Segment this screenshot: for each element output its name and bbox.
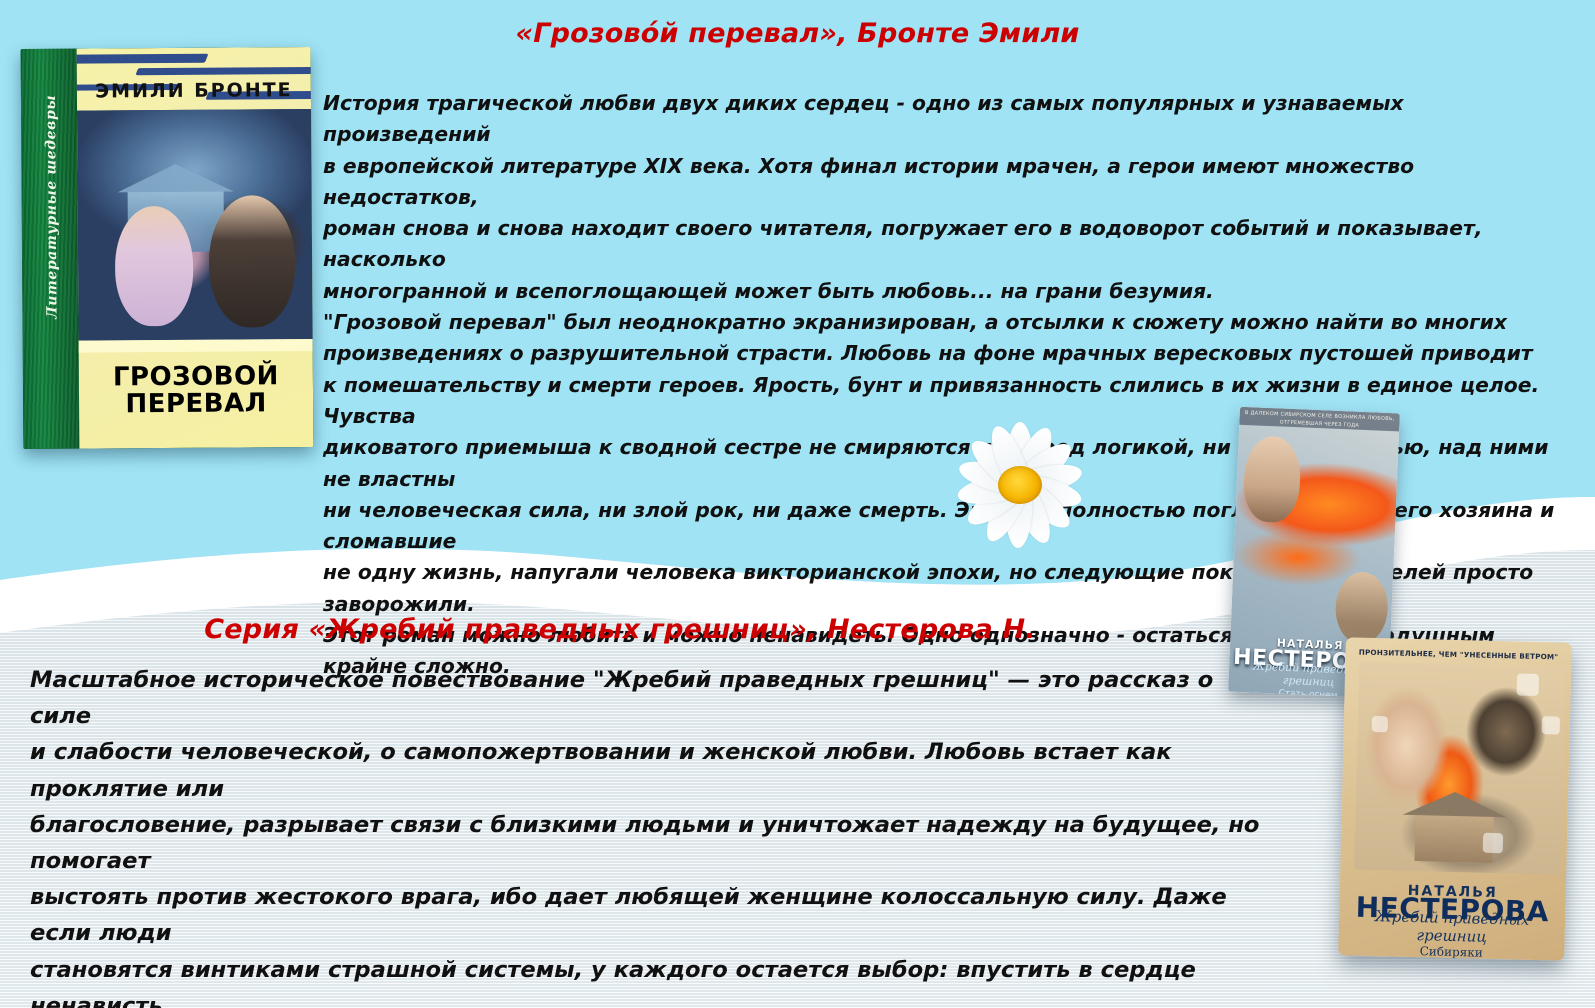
book1-illustration (77, 109, 313, 341)
book1-streak (135, 67, 313, 75)
daisy-center (998, 466, 1042, 504)
poster-canvas: «Грозово́й перевал», Бронте Эмили Истори… (0, 0, 1595, 1008)
book1-spine: Литературные шедевры (21, 49, 82, 449)
book3-puzzle-piece (1372, 716, 1388, 732)
book-cover-nesterova-front: ПРОНЗИТЕЛЬНЕЕ, ЧЕМ "УНЕСЕННЫЕ ВЕТРОМ" НА… (1338, 637, 1572, 960)
book1-man-figure (209, 195, 296, 328)
book3-puzzle-piece (1517, 673, 1540, 696)
book1-title-line2: ПЕРЕВАЛ (79, 390, 313, 419)
book3-puzzle-piece (1542, 716, 1560, 734)
book1-series-label: Литературные шедевры (43, 67, 61, 347)
book1-title: ГРОЗОВОЙ ПЕРЕВАЛ (79, 363, 313, 419)
book1-author: ЭМИЛИ БРОНТЕ (77, 79, 311, 103)
section2-description: Масштабное историческое повествование "Ж… (30, 662, 1260, 1008)
book3-house-graphic (1414, 813, 1493, 863)
book3-puzzle-piece (1483, 833, 1503, 853)
section1-title: «Грозово́й перевал», Бронте Эмили (0, 18, 1595, 49)
book1-streak (77, 339, 314, 353)
book1-face: ЭМИЛИ БРОНТЕ ГРОЗОВОЙ ПЕРЕВАЛ (77, 47, 314, 449)
book1-streak (77, 54, 209, 64)
book1-title-line1: ГРОЗОВОЙ (79, 363, 313, 392)
daisy-flower-icon (930, 405, 1110, 565)
section2-title: Серия «Жребий праведных грешниц», Нестер… (0, 614, 1240, 645)
book3-series: Жребий праведных грешниц (1338, 906, 1565, 948)
book1-woman-figure (115, 206, 194, 327)
book-cover-wuthering-heights: Литературные шедевры ЭМИЛИ БРОНТЕ ГРОЗОВ… (21, 47, 314, 449)
